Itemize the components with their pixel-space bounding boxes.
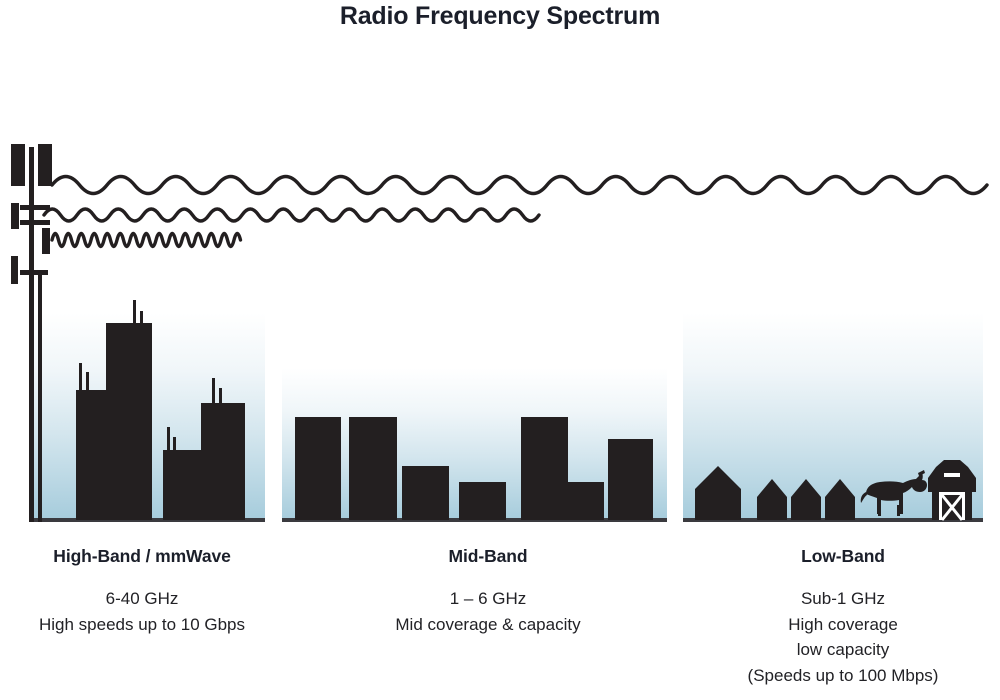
infographic-canvas: Radio Frequency Spectrum xyxy=(0,0,1000,700)
barn xyxy=(928,460,976,520)
building-block xyxy=(521,417,568,520)
antenna-spire xyxy=(219,388,222,406)
skyscraper xyxy=(106,323,152,520)
tower-crossbar xyxy=(20,270,48,275)
band-detail-line: High speeds up to 10 Gbps xyxy=(0,612,284,638)
band-detail-line: (Speeds up to 100 Mbps) xyxy=(686,663,1000,689)
tower-antenna-panel xyxy=(11,256,18,284)
tower-antenna-panel xyxy=(11,144,25,186)
tower-mast-secondary xyxy=(38,272,42,522)
band-detail-low: Sub-1 GHz High coverage low capacity (Sp… xyxy=(686,586,1000,688)
antenna-spire xyxy=(79,363,82,393)
band-column-low: Low-Band Sub-1 GHz High coverage low cap… xyxy=(686,546,1000,688)
antenna-spire xyxy=(173,437,176,453)
antenna-spire xyxy=(167,427,170,453)
barn-loft-window xyxy=(944,473,960,477)
building-block xyxy=(459,482,506,520)
tower-mast xyxy=(29,147,34,522)
band-title-low: Low-Band xyxy=(686,546,1000,566)
long-wave xyxy=(52,177,987,194)
band-frequency-mid: 1 – 6 GHz xyxy=(288,586,688,612)
building-block xyxy=(402,466,449,520)
radio-waves xyxy=(44,177,987,247)
tower-antenna-panel xyxy=(42,228,50,254)
antenna-spire xyxy=(133,300,136,326)
band-detail-mid: 1 – 6 GHz Mid coverage & capacity xyxy=(288,586,688,637)
band-detail-line: High coverage xyxy=(686,612,1000,638)
band-column-high: High-Band / mmWave 6-40 GHz High speeds … xyxy=(0,546,284,637)
band-frequency-high: 6-40 GHz xyxy=(0,586,284,612)
tower-crossbar xyxy=(20,205,50,210)
building-block xyxy=(295,417,341,520)
band-title-high: High-Band / mmWave xyxy=(0,546,284,566)
skyscraper xyxy=(76,390,106,520)
building-block xyxy=(568,482,604,520)
tower-crossbar xyxy=(20,220,50,225)
building-block xyxy=(608,439,653,520)
medium-wave xyxy=(44,209,539,221)
tower-antenna-panel xyxy=(11,203,19,229)
band-frequency-low: Sub-1 GHz xyxy=(686,586,1000,612)
band-title-mid: Mid-Band xyxy=(288,546,688,566)
short-wave xyxy=(52,234,241,247)
antenna-spire xyxy=(86,372,89,394)
band-column-mid: Mid-Band 1 – 6 GHz Mid coverage & capaci… xyxy=(288,546,688,637)
antenna-spire xyxy=(140,311,143,327)
skyscraper xyxy=(201,403,245,520)
skyscraper xyxy=(163,450,201,520)
antenna-spire xyxy=(212,378,215,406)
band-detail-line: low capacity xyxy=(686,637,1000,663)
building-block xyxy=(349,417,397,520)
tower-antenna-panel xyxy=(38,144,52,186)
band-detail-line: Mid coverage & capacity xyxy=(288,612,688,638)
band-detail-high: 6-40 GHz High speeds up to 10 Gbps xyxy=(0,586,284,637)
